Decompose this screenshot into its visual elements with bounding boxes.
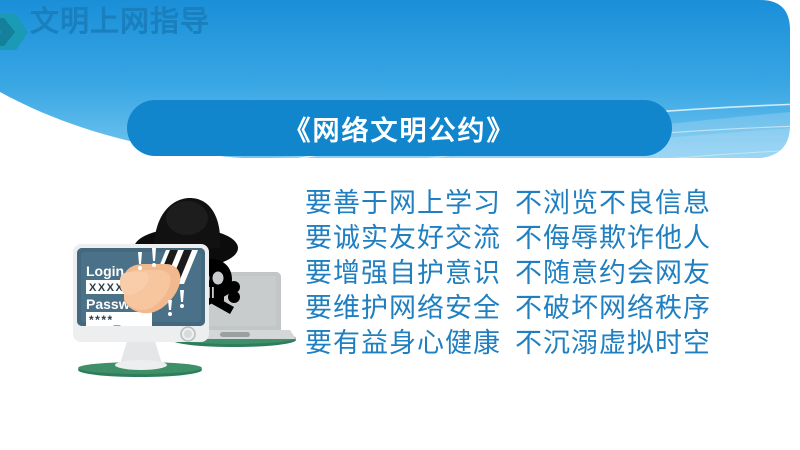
pledge-line: 要增强自护意识 xyxy=(305,256,501,291)
pledge-line: 要维护网络安全 xyxy=(305,291,501,326)
login-label: Login xyxy=(86,263,124,279)
pledge-column-right: 不浏览不良信息 不侮辱欺诈他人 不随意约会网友 不破坏网络秩序 不沉溺虚拟时空 xyxy=(515,186,711,361)
banner-pill: 《网络文明公约》 xyxy=(127,100,672,156)
pledge-columns: 要善于网上学习 要诚实友好交流 要增强自护意识 要维护网络安全 要有益身心健康 … xyxy=(305,186,765,361)
pledge-line: 不浏览不良信息 xyxy=(515,186,711,221)
pledge-line: 不随意约会网友 xyxy=(515,256,711,291)
banner-title: 《网络文明公约》 xyxy=(284,109,516,148)
pledge-line: 要善于网上学习 xyxy=(305,186,501,221)
pledge-line: 不沉溺虚拟时空 xyxy=(515,326,711,361)
slide-canvas: 文明上网指导 《网络文明公约》 xyxy=(0,0,800,450)
hacker-illustration: Login XXXXXX Password ****_ xyxy=(62,188,312,383)
pledge-line: 要诚实友好交流 xyxy=(305,221,501,256)
pledge-line: 要有益身心健康 xyxy=(305,326,501,361)
pledge-line: 不侮辱欺诈他人 xyxy=(515,221,711,256)
pledge-line: 不破坏网络秩序 xyxy=(515,291,711,326)
pledge-column-left: 要善于网上学习 要诚实友好交流 要增强自护意识 要维护网络安全 要有益身心健康 xyxy=(305,186,501,361)
page-title: 文明上网指导 xyxy=(30,2,210,42)
svg-text:****_: ****_ xyxy=(89,313,122,327)
